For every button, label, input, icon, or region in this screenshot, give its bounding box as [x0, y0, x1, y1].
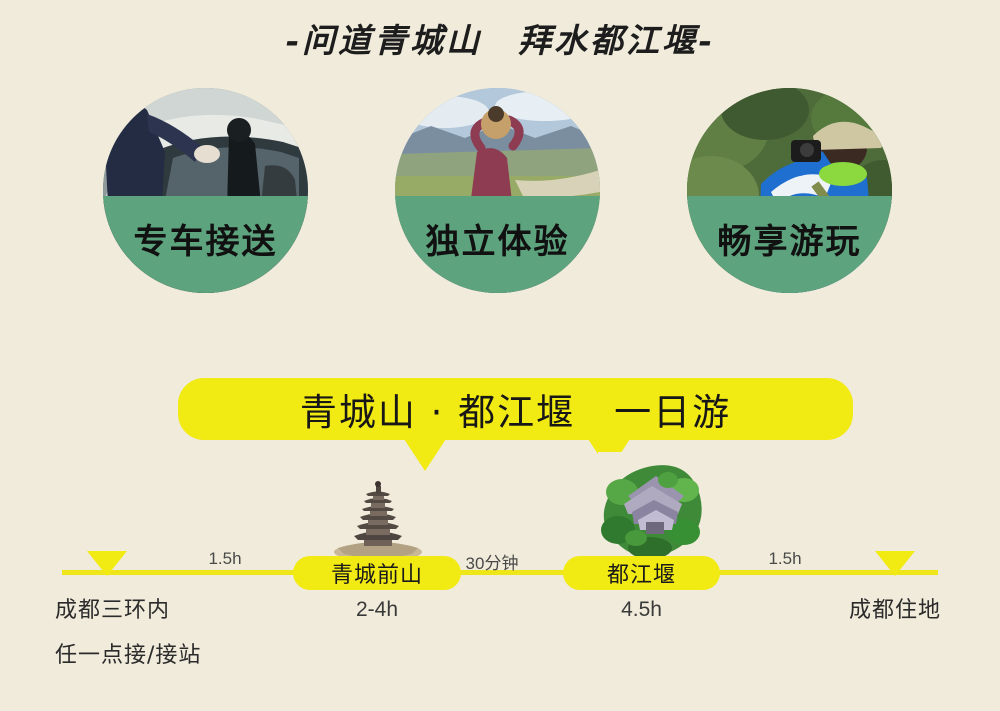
timeline-start-marker [87, 551, 127, 576]
pickup-area-line-2: 任一点接/接站 [55, 637, 201, 669]
page-title: -问道青城山 拜水都江堰- [0, 14, 1000, 62]
timeline-stop-2[interactable]: 都江堰 [563, 556, 720, 590]
pagoda-thumbnail [330, 478, 426, 560]
feature-circle-3: 畅享游玩 [687, 88, 892, 293]
leg-duration-1: 1.5h [165, 549, 285, 569]
feature-caption-3: 畅享游玩 [718, 225, 862, 265]
feature-caption-band-2: 独立体验 [395, 196, 600, 293]
leg-duration-3: 1.5h [725, 549, 845, 569]
timeline-stop-2-stay: 4.5h [563, 598, 720, 622]
banner-tail-left [404, 439, 446, 471]
temple-aerial-thumbnail [598, 452, 706, 560]
feature-circle-1: 专车接送 [103, 88, 308, 293]
timeline-stop-1[interactable]: 青城前山 [293, 556, 461, 590]
tour-banner-label: 青城山 · 都江堰 一日游 [300, 382, 731, 436]
feature-caption-1: 专车接送 [134, 225, 278, 265]
timeline-stop-2-label: 都江堰 [607, 557, 676, 589]
timeline-stop-1-label: 青城前山 [331, 557, 423, 589]
feature-caption-2: 独立体验 [426, 225, 570, 265]
feature-caption-band-3: 畅享游玩 [687, 196, 892, 293]
timeline-end-marker [875, 551, 915, 576]
dropoff-label: 成都住地 [849, 592, 941, 624]
feature-circle-2: 独立体验 [395, 88, 600, 293]
timeline-stop-1-stay: 2-4h [293, 598, 461, 622]
feature-caption-band-1: 专车接送 [103, 196, 308, 293]
pickup-area-line-1: 成都三环内 [55, 592, 170, 624]
poster-canvas: -问道青城山 拜水都江堰- 专车接送 [0, 0, 1000, 711]
tour-banner: 青城山 · 都江堰 一日游 [178, 378, 853, 440]
